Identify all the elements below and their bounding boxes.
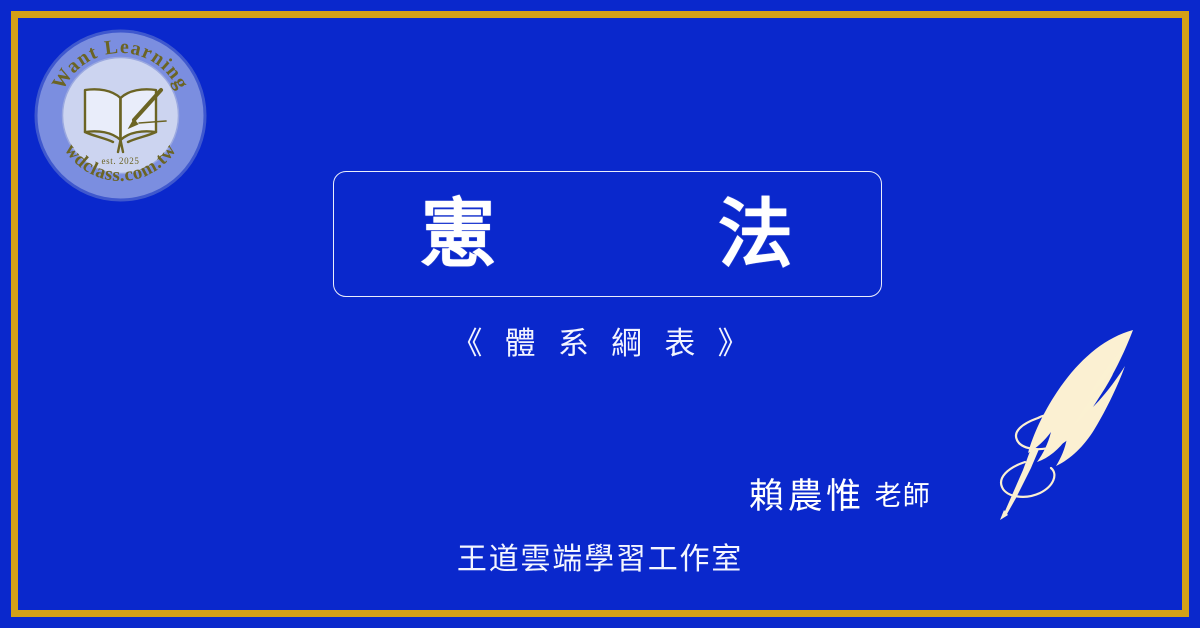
course-cover-slide: Want Learning wdclass.com.tw est. 2025 — [0, 0, 1200, 628]
main-title-box: 憲 法 — [333, 171, 882, 297]
instructor-role: 老師 — [875, 481, 931, 512]
brand-logo[interactable]: Want Learning wdclass.com.tw est. 2025 — [33, 28, 208, 203]
logo-established-text: est. 2025 — [102, 156, 140, 166]
page-title: 憲 法 — [421, 197, 795, 272]
studio-name: 王道雲端學習工作室 — [0, 534, 1200, 578]
instructor-name: 賴農惟 — [749, 477, 865, 517]
quill-feather-pen-icon — [985, 322, 1150, 522]
instructor-credit: 賴農惟老師 — [690, 468, 990, 519]
